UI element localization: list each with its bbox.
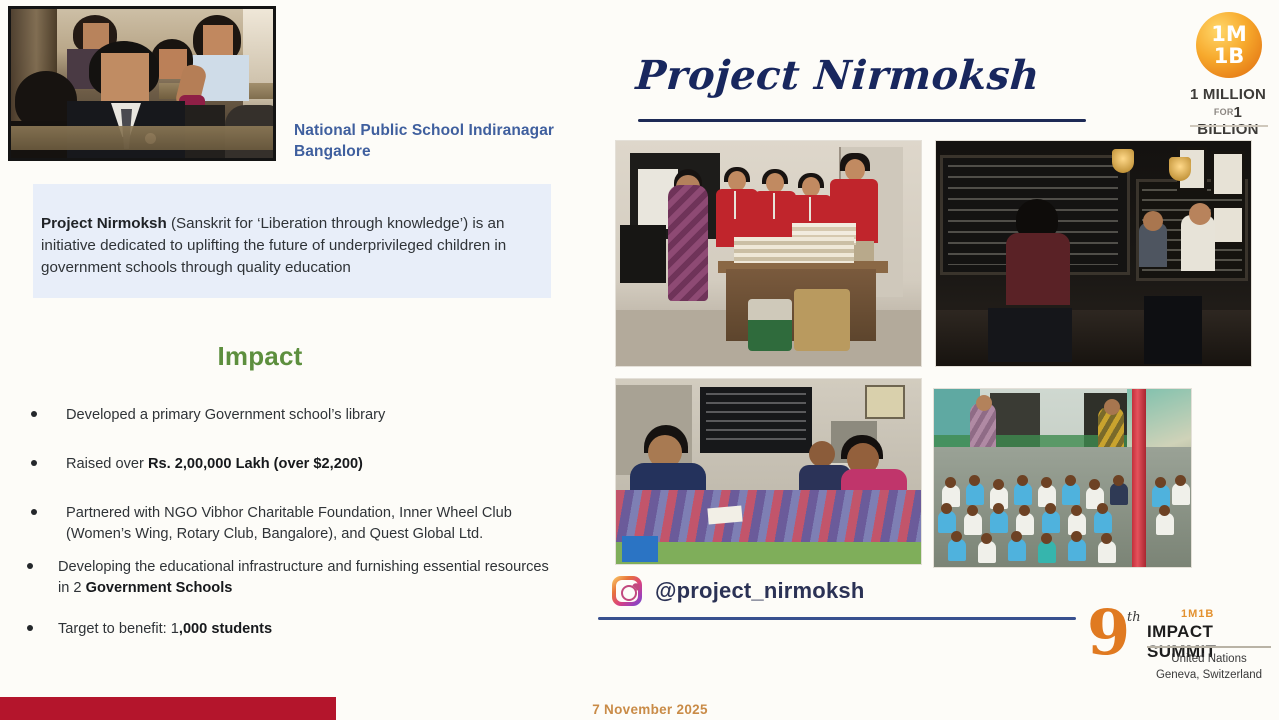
photo4-child-head xyxy=(1155,477,1166,488)
bullet-text-bold: Rs. 2,00,000 Lakh (over $2,200) xyxy=(148,456,363,472)
photo4-child xyxy=(990,511,1008,533)
instagram-underline xyxy=(598,617,1076,620)
photo4-child xyxy=(1094,511,1112,533)
photo4-child xyxy=(1038,541,1056,563)
photo4-child xyxy=(1156,513,1174,535)
photo1-student1-lanyard xyxy=(734,191,736,219)
bullet-text: Target to benefit: 1 xyxy=(58,621,179,637)
photo1-teacher-sari xyxy=(668,185,708,301)
photo4-child-head xyxy=(1097,503,1108,514)
photo4-child xyxy=(964,513,982,535)
impact-heading: Impact xyxy=(0,341,520,372)
photo1-student1-head xyxy=(728,171,746,191)
bullet-dot-icon xyxy=(27,563,33,569)
photo2-equipment-box xyxy=(988,308,1072,362)
photo4-child xyxy=(978,541,996,563)
photo3-notebook xyxy=(707,506,742,525)
photo1-book-stack xyxy=(734,237,854,263)
bullet-text: Raised over xyxy=(66,456,148,472)
bullet-dot-icon xyxy=(31,509,37,515)
slide-date: 7 November 2025 xyxy=(500,702,800,717)
photo4-child-head xyxy=(969,475,980,486)
photo4-child xyxy=(1008,539,1026,561)
photo4-child-head xyxy=(1045,503,1056,514)
bullet-dot-icon xyxy=(31,411,37,417)
photo2-person-right-head xyxy=(1189,203,1211,225)
photo4-child-head xyxy=(1017,475,1028,486)
photo4-child xyxy=(1042,511,1060,533)
1m1b-circle-icon: 1M 1B xyxy=(1196,12,1262,78)
photo1-supply-sack-brown xyxy=(794,289,850,351)
photo4-child-head xyxy=(1159,505,1170,516)
photo3-student3-head xyxy=(809,441,835,467)
photo1-noticeboard-lower xyxy=(620,225,666,283)
summit-ordinal-suffix: th xyxy=(1127,610,1141,625)
photo4-child xyxy=(1062,483,1080,505)
page-title: Project Nirmoksh xyxy=(634,52,1041,99)
bullet-text-bold: Government Schools xyxy=(86,580,233,596)
1m1b-logo: 1M 1B 1 MILLION FOR1 BILLION xyxy=(1182,12,1274,138)
photo4-child-head xyxy=(1041,533,1052,544)
photo2-wall-frame-1 xyxy=(1211,151,1245,197)
photo2-counter xyxy=(936,310,1251,366)
photo2-wall-frame-3 xyxy=(1211,205,1245,245)
1m1b-mark-bottom: 1B xyxy=(1196,46,1262,67)
photo4-child-head xyxy=(1071,505,1082,516)
list-item: Developing the educational infrastructur… xyxy=(22,557,562,599)
photo1-supply-sack-green xyxy=(748,299,792,351)
photo4-child-head xyxy=(1113,475,1124,486)
photo4-child xyxy=(948,539,966,561)
summit-org-label: 1M1B xyxy=(1181,608,1214,620)
list-item: Developed a primary Government school’s … xyxy=(22,405,562,426)
photo2-person-seated-head xyxy=(1143,211,1163,231)
list-item: Target to benefit: 1,000 students xyxy=(22,619,562,640)
list-item: Raised over Rs. 2,00,000 Lakh (over $2,2… xyxy=(22,454,562,475)
photo3-blackboard-writing xyxy=(706,393,806,447)
photo4-child-head xyxy=(981,533,992,544)
bottom-accent-bar xyxy=(0,697,336,720)
photo4-child-head xyxy=(1175,475,1186,486)
bullet-text: Partnered with NGO Vibhor Charitable Fou… xyxy=(66,505,512,542)
photo2-pendant-lamp-2 xyxy=(1169,157,1191,181)
photo1-student2-lanyard xyxy=(773,193,775,219)
instagram-icon[interactable] xyxy=(612,576,642,606)
impact-bullet-list: Developed a primary Government school’s … xyxy=(22,405,562,640)
summit-venue: United Nations Geneva, Switzerland xyxy=(1143,652,1275,683)
photo4-teacher-right-head xyxy=(1104,399,1120,415)
impact-summit-logo: 9 th 1M1B IMPACT SUMMIT United Nations G… xyxy=(1083,604,1273,690)
bullet-dot-icon xyxy=(31,460,37,466)
photo4-child-head xyxy=(1071,531,1082,542)
summit-venue-line1: United Nations xyxy=(1143,652,1275,668)
presentation-slide: National Public School Indiranagar Banga… xyxy=(0,0,1279,720)
photo4-child-head xyxy=(941,503,952,514)
instagram-handle[interactable]: @project_nirmoksh xyxy=(655,578,864,604)
1m1b-line1: 1 MILLION xyxy=(1182,86,1274,103)
1m1b-logo-underline xyxy=(1190,125,1268,127)
1m1b-line2: FOR1 BILLION xyxy=(1182,104,1274,138)
photo4-child-head xyxy=(993,479,1004,490)
speaker-video-feed[interactable] xyxy=(8,6,276,161)
photo1-student3-head xyxy=(802,177,820,197)
1m1b-line2-prefix: FOR xyxy=(1214,107,1234,117)
photo3-pen-holder xyxy=(622,536,658,562)
photo1-student2-head xyxy=(766,173,784,193)
photo1-student3-lanyard xyxy=(809,197,811,221)
photo4-child xyxy=(1014,483,1032,505)
photo4-child-head xyxy=(993,503,1004,514)
photo2-volunteer-shirt xyxy=(1006,233,1070,305)
instagram-row[interactable]: @project_nirmoksh xyxy=(612,576,864,606)
photo-book-donation[interactable] xyxy=(615,140,922,367)
summit-venue-line2: Geneva, Switzerland xyxy=(1143,668,1275,684)
photo-cafe-fundraiser[interactable] xyxy=(935,140,1252,367)
photo3-table-edge xyxy=(616,542,921,564)
project-description: Project Nirmoksh (Sanskrit for ‘Liberati… xyxy=(41,213,553,280)
school-name: National Public School Indiranagar Banga… xyxy=(294,121,594,163)
summit-ordinal-number: 9 xyxy=(1087,602,1130,664)
photo4-support-pole xyxy=(1132,389,1146,567)
attendee-right-head xyxy=(203,25,233,59)
bullet-dot-icon xyxy=(27,625,33,631)
photo4-child-head xyxy=(1065,475,1076,486)
photo4-child-head xyxy=(1011,531,1022,542)
photo4-child-head xyxy=(951,531,962,542)
photo4-child-head xyxy=(945,477,956,488)
photo4-teacher-left-head xyxy=(976,395,992,411)
photo4-child-head xyxy=(1041,477,1052,488)
photo1-student4-head xyxy=(845,159,865,181)
video-desk-front xyxy=(11,126,273,150)
project-description-lead: Project Nirmoksh xyxy=(41,215,167,232)
photo3-wall-frame xyxy=(865,385,905,419)
title-underline xyxy=(638,119,1086,122)
photo4-child xyxy=(966,483,984,505)
photo4-child-head xyxy=(1089,479,1100,490)
photo4-child-head xyxy=(1101,533,1112,544)
bullet-text: Developed a primary Government school’s … xyxy=(66,407,385,423)
photo4-child-head xyxy=(967,505,978,516)
photo4-child-head xyxy=(1019,505,1030,516)
photo2-pendant-lamp-1 xyxy=(1112,149,1134,173)
photo-classroom-session[interactable] xyxy=(615,378,922,565)
photo4-child xyxy=(938,511,956,533)
list-item: Partnered with NGO Vibhor Charitable Fou… xyxy=(22,503,562,545)
photo4-child xyxy=(1172,483,1190,505)
photo4-child xyxy=(1098,541,1116,563)
bullet-text-bold: ,000 students xyxy=(179,621,272,637)
photo-government-school-children[interactable] xyxy=(933,388,1192,568)
photo4-child xyxy=(1152,485,1170,507)
photo4-child xyxy=(1068,539,1086,561)
video-scene xyxy=(11,9,273,158)
photo2-appliance xyxy=(1144,296,1202,364)
1m1b-mark-top: 1M xyxy=(1196,24,1262,45)
photo4-child xyxy=(1110,483,1128,505)
summit-divider xyxy=(1147,646,1271,648)
